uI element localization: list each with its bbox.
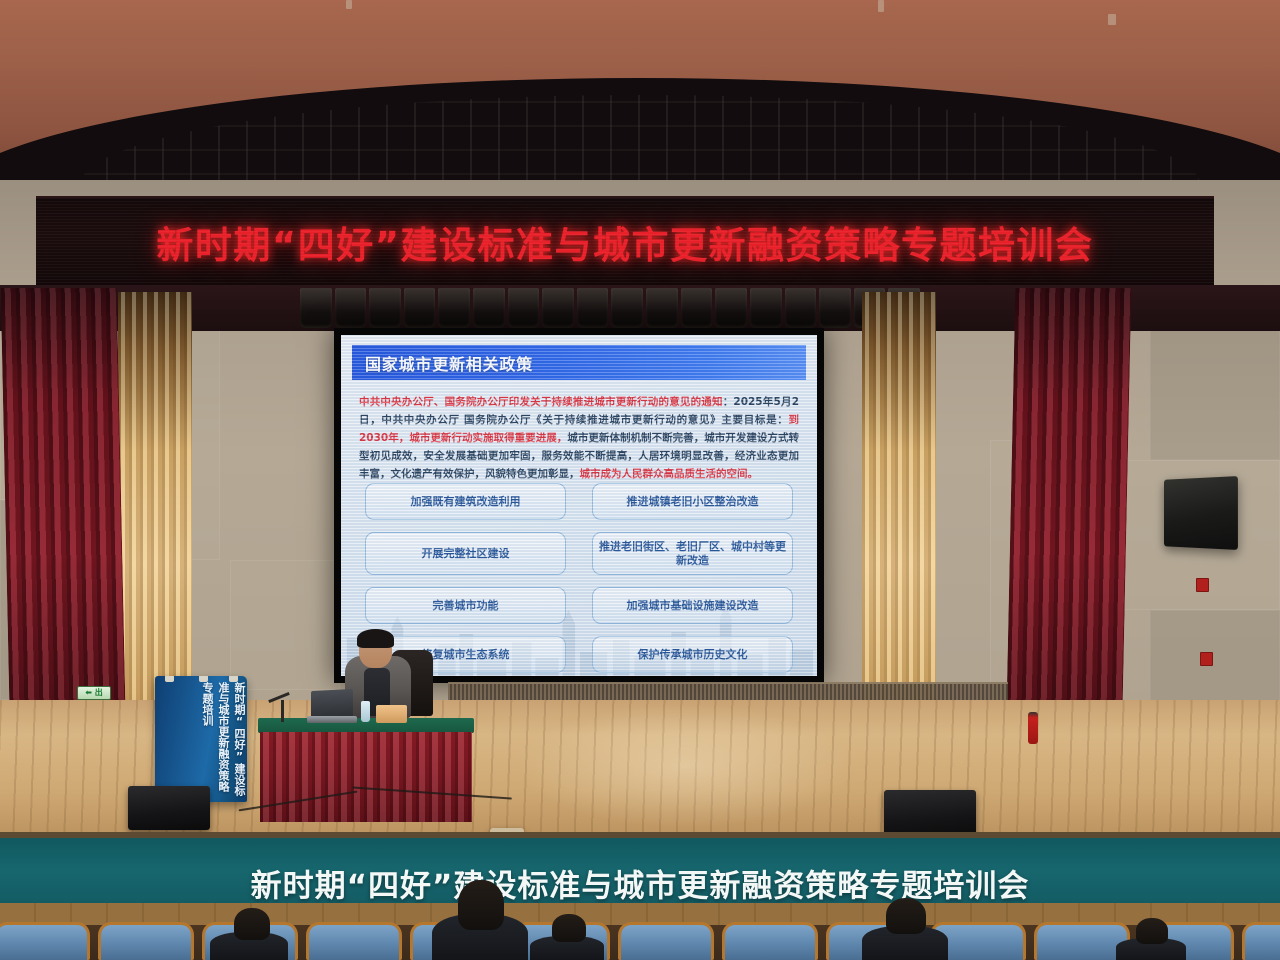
projection-screen: 国家城市更新相关政策 中共中央办公厅、国务院办公厅印发关于持续推进城市更新行动的…: [334, 328, 824, 683]
stage-light-icon: [750, 288, 782, 328]
stage-light-icon: [508, 288, 540, 328]
stage-light-icon: [785, 288, 817, 328]
stage-light-icon: [577, 288, 609, 328]
audience-seat: [618, 922, 714, 960]
policy-box-grid: 加强既有建筑改造利用 开展完整社区建设 完善城市功能 修复城市生态系统 推进城镇…: [365, 483, 793, 673]
auditorium-scene: 新时期“四好”建设标准与城市更新融资策略专题培训会: [0, 0, 1280, 960]
slide-body-run-5: 城市成为人民群众高品质生活的空间。: [580, 468, 759, 480]
presentation-slide: 国家城市更新相关政策 中共中央办公厅、国务院办公厅印发关于持续推进城市更新行动的…: [341, 335, 817, 676]
policy-box: 开展完整社区建设: [365, 532, 566, 575]
wall-speaker-icon: [1164, 476, 1238, 550]
stage-light-icon: [404, 288, 436, 328]
stage-light-icon: [715, 288, 747, 328]
led-banner-text: 新时期“四好”建设标准与城市更新融资策略专题培训会: [156, 215, 1093, 269]
wall-alarm-box: [1200, 652, 1213, 666]
stage-light-icon: [542, 288, 574, 328]
stage-light-icon: [473, 288, 505, 328]
ceiling-spot-icon: [346, 0, 352, 9]
audience-head: [552, 914, 586, 942]
audience-seat: [0, 922, 90, 960]
audience-head: [1136, 918, 1168, 944]
stage-light-icon: [646, 288, 678, 328]
stage-light-icon: [611, 288, 643, 328]
table-red-skirt: [260, 732, 472, 822]
policy-box: 加强既有建筑改造利用: [365, 483, 566, 520]
audience-seat: [722, 922, 818, 960]
policy-box: 推进城镇老旧小区整治改造: [592, 483, 793, 520]
emergency-exit-sign: ⬅ 出: [77, 686, 111, 700]
stage-lighting-bar: [300, 288, 920, 328]
ceiling-spot-icon: [878, 0, 884, 12]
stage-light-icon: [300, 288, 332, 328]
laptop-keyboard: [307, 716, 357, 723]
podium-banner-stand: 新时期“四好”建设标准与城市更新融资策略专题培训: [155, 676, 247, 802]
presenter-hair: [357, 629, 394, 648]
policy-box: 保护传承城市历史文化: [592, 636, 793, 673]
stage-light-icon: [681, 288, 713, 328]
audience-seat: [98, 922, 194, 960]
stage-light-icon: [335, 288, 367, 328]
policy-box: 推进老旧街区、老旧厂区、城中村等更新改造: [592, 532, 793, 575]
floor-light-glare: [520, 706, 850, 826]
stage-light-icon: [369, 288, 401, 328]
microphone-stand: [281, 700, 284, 722]
slide-body-run-1: 中共中央办公厅、国务院办公厅印发关于持续推进城市更新行动的意见的通知: [359, 396, 723, 408]
tissue-box: [376, 705, 407, 723]
audience-head: [234, 908, 270, 940]
water-bottle-icon: [361, 701, 370, 722]
audience-head: [458, 880, 504, 930]
stage-monitor-speaker: [128, 786, 210, 830]
stage-light-icon: [438, 288, 470, 328]
slide-title: 国家城市更新相关政策: [365, 351, 533, 375]
policy-box: 加强城市基础设施建设改造: [592, 587, 793, 624]
led-header-banner: 新时期“四好”建设标准与城市更新融资策略专题培训会: [36, 196, 1214, 288]
podium-vertical-text: 新时期“四好”建设标准与城市更新融资策略专题培训: [155, 682, 247, 800]
audience-head: [886, 898, 926, 934]
policy-box-column-right: 推进城镇老旧小区整治改造 推进老旧街区、老旧厂区、城中村等更新改造 加强城市基础…: [592, 483, 793, 673]
fire-extinguisher-icon: [1028, 712, 1038, 744]
ceiling-spot-icon: [1108, 14, 1116, 25]
policy-box-column-left: 加强既有建筑改造利用 开展完整社区建设 完善城市功能 修复城市生态系统: [365, 483, 566, 673]
audience-seat: [306, 922, 402, 960]
stage-light-icon: [819, 288, 851, 328]
wall-alarm-box: [1196, 578, 1209, 592]
wall-panel: [230, 560, 340, 690]
slide-body-text: 中共中央办公厅、国务院办公厅印发关于持续推进城市更新行动的意见的通知：2025年…: [352, 387, 806, 487]
speaker-table: [258, 718, 474, 822]
slide-title-bar: 国家城市更新相关政策: [352, 345, 806, 380]
audience-seat: [1242, 922, 1280, 960]
stage-monitor-speaker: [884, 790, 976, 838]
exit-sign-glyph: ⬅ 出: [85, 689, 103, 697]
policy-box: 完善城市功能: [365, 587, 566, 624]
